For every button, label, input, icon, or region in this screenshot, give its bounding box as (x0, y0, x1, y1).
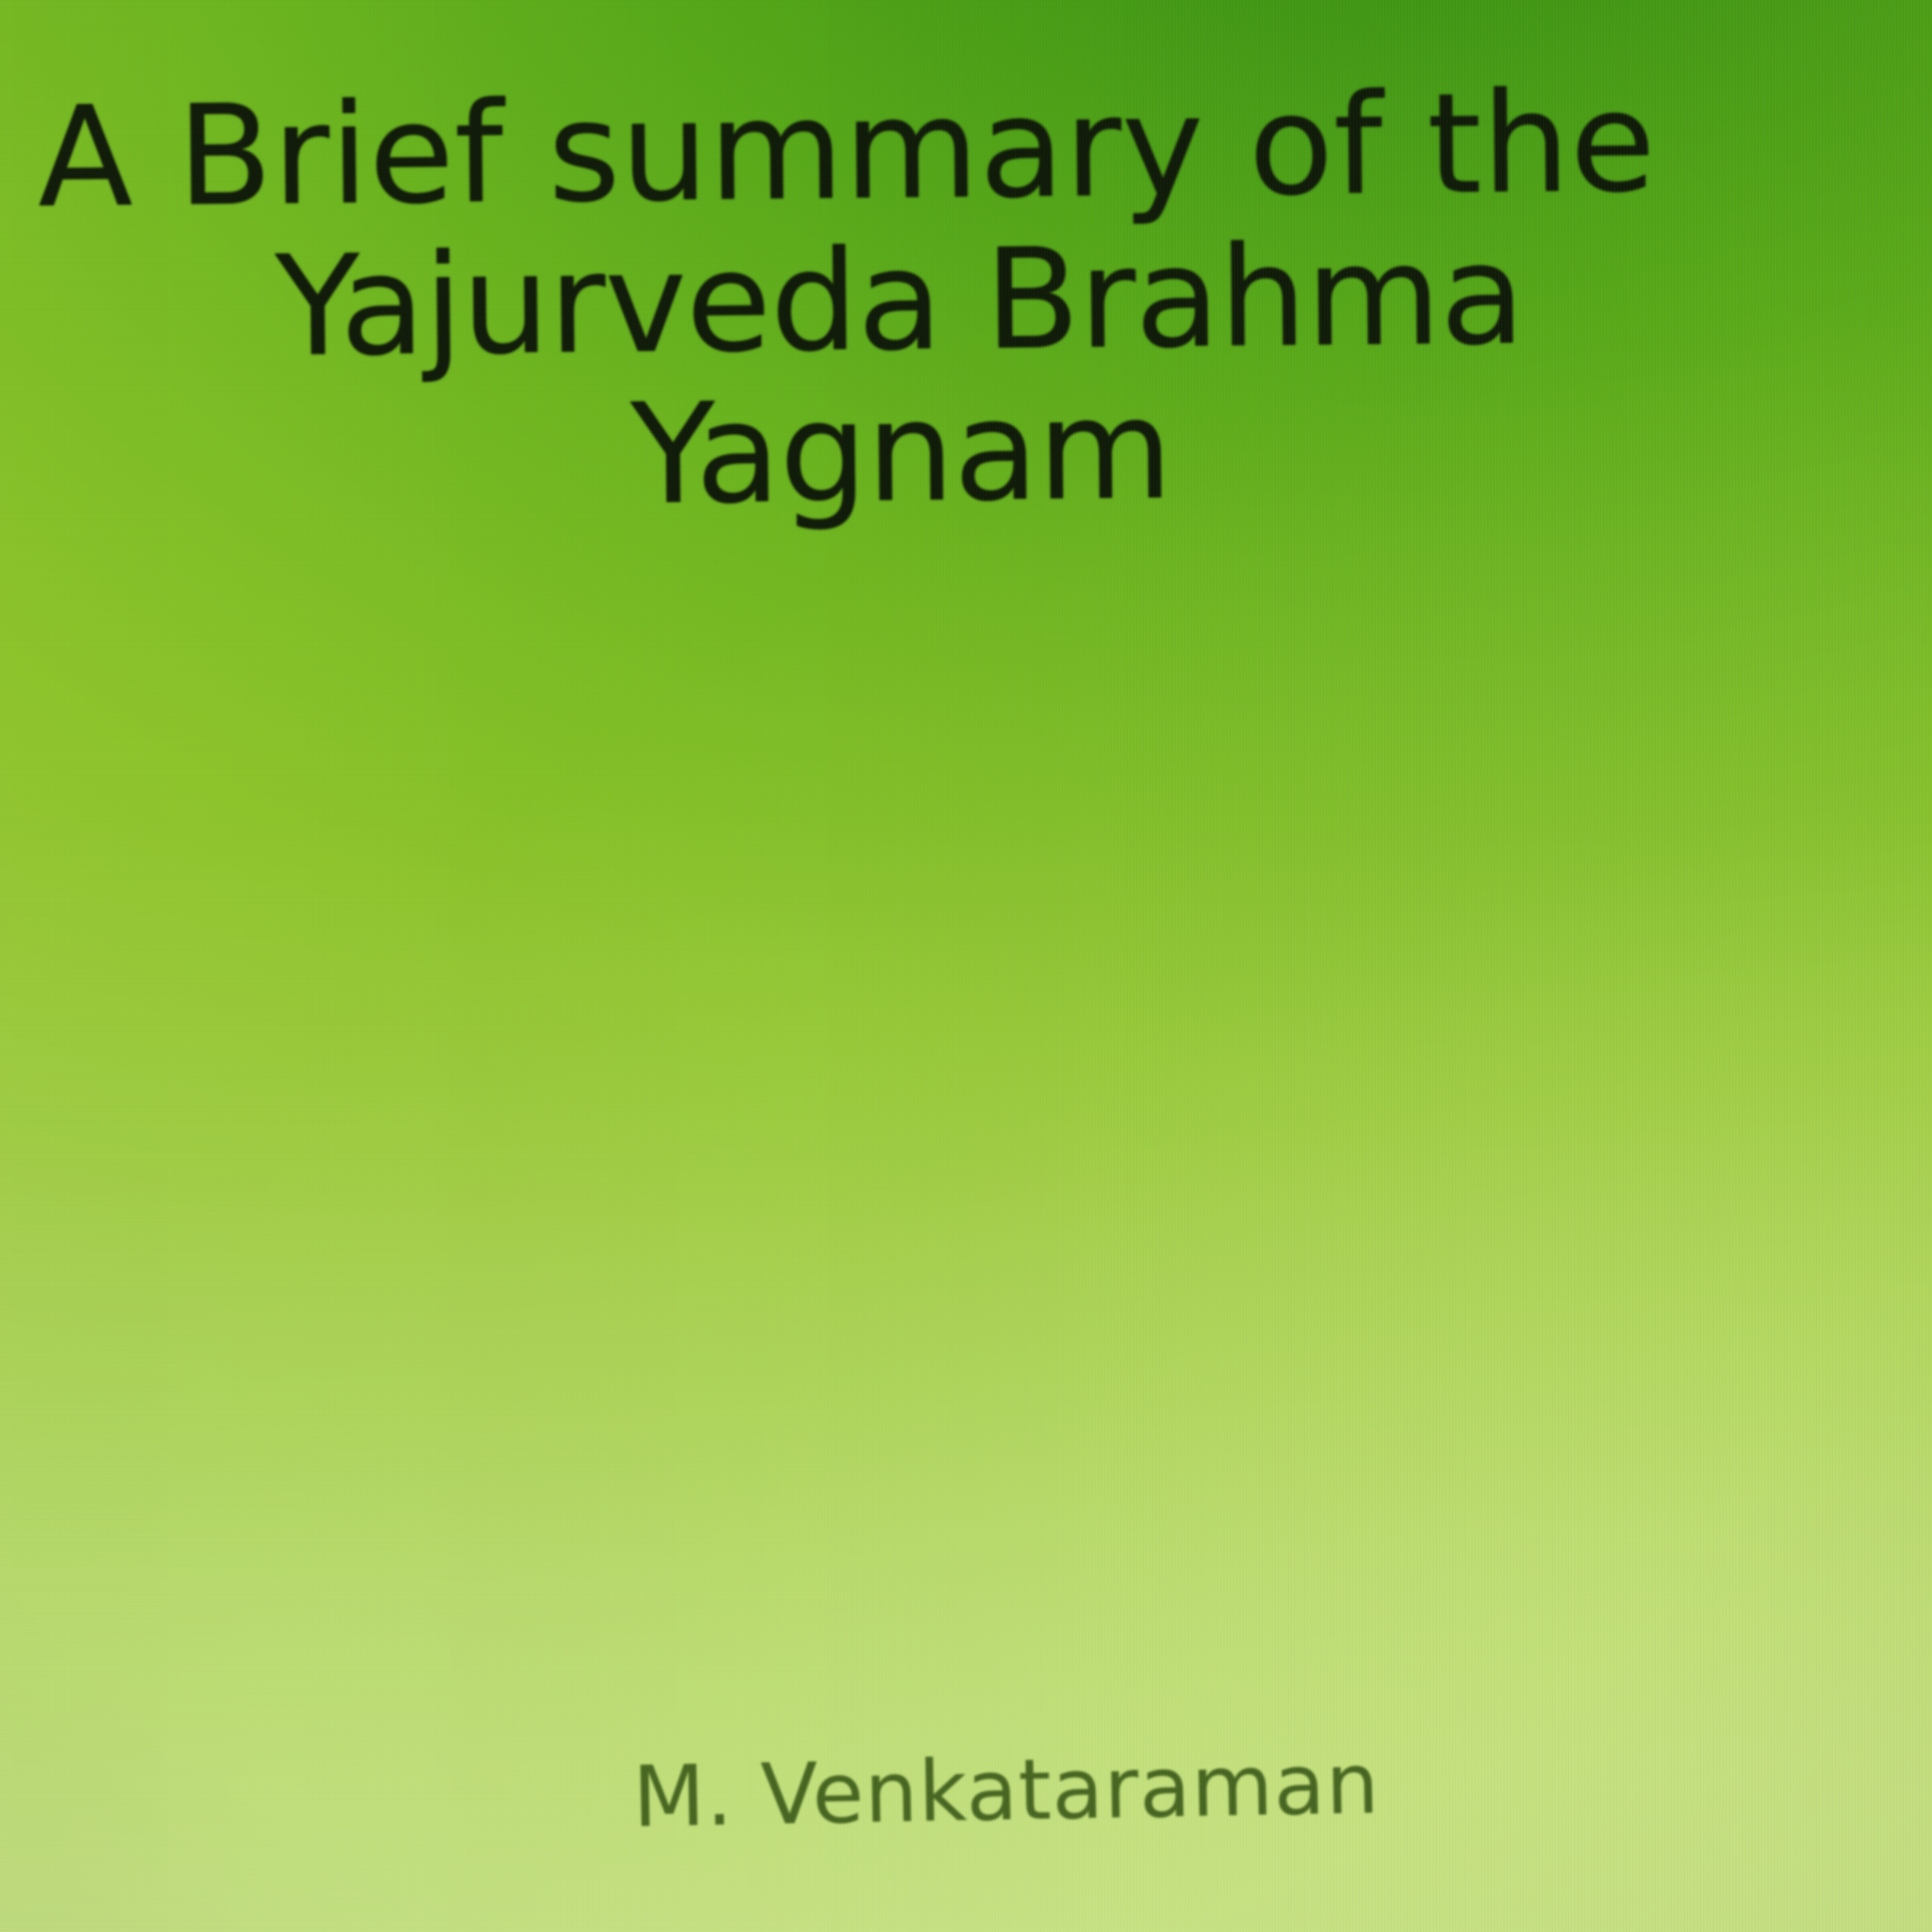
cover-author: M. Venkataraman (0, 1727, 1932, 1854)
cover-title: A Brief summary of the Yajurveda Brahma … (0, 68, 1932, 532)
title-line-3: Yagnam (3, 370, 1932, 532)
book-cover: A Brief summary of the Yajurveda Brahma … (0, 0, 1932, 1932)
title-line-2: Yajurveda Brahma (2, 219, 1932, 381)
author-name: M. Venkataraman (0, 1727, 1932, 1854)
title-line-1: A Brief summary of the (0, 68, 1932, 229)
